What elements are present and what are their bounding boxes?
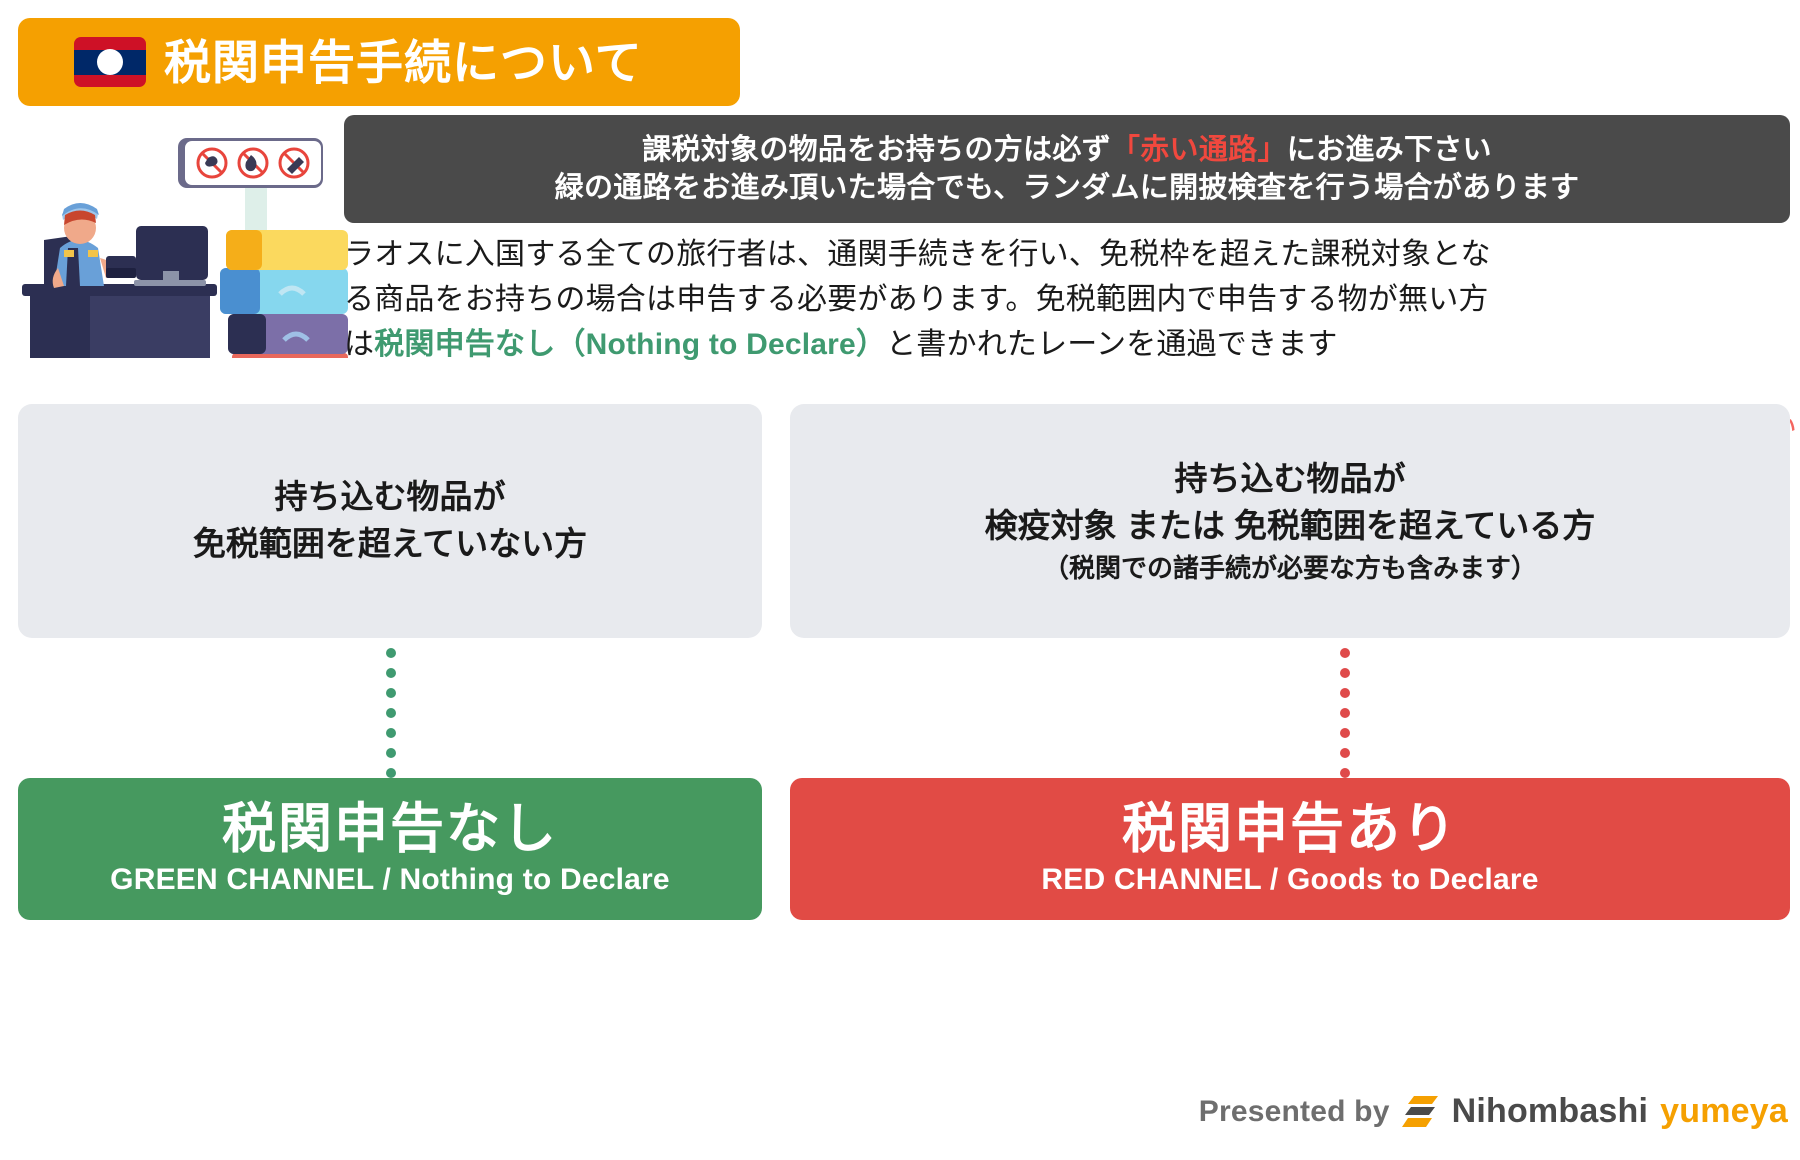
condition-left-line-2: 免税範囲を超えていない方 [193, 521, 587, 568]
prohibition-sign-board [178, 138, 323, 188]
condition-left-line-1: 持ち込む物品が [275, 474, 506, 521]
arrow-red-dots [1340, 648, 1350, 778]
green-channel-box: 税関申告なし GREEN CHANNEL / Nothing to Declar… [18, 778, 762, 920]
condition-right-line-3: （税関での諸手続が必要な方も含みます） [1043, 550, 1537, 586]
footer-branding: Presented by Nihombashiyumeya [1199, 1092, 1788, 1131]
body-paragraph: ラオスに入国する全ての旅行者は、通関手続きを行い、免税枠を超えた課税対象とな る… [344, 232, 1796, 367]
condition-box-green: 持ち込む物品が 免税範囲を超えていない方 [18, 404, 762, 638]
laos-flag-icon [74, 37, 146, 87]
warning-line-1-post: にお進み下さい [1287, 134, 1492, 166]
suitcase-stack [220, 230, 348, 358]
red-channel-title-jp: 税関申告あり [1122, 800, 1458, 858]
body-line-1: ラオスに入国する全ての旅行者は、通関手続きを行い、免税枠を超えた課税対象とな [344, 232, 1796, 277]
red-channel-title-en: RED CHANNEL / Goods to Declare [1041, 862, 1538, 898]
page-title: 税関申告手続について [164, 39, 643, 86]
warning-red-channel-text: 「赤い通路」 [1111, 134, 1287, 166]
warning-line-1: 課税対象の物品をお持ちの方は必ず「赤い通路」にお進み下さい [642, 131, 1492, 169]
header-banner: 税関申告手続について [18, 18, 740, 106]
arrow-green-dots [386, 648, 396, 778]
infographic-root: 税関申告手続について [0, 0, 1800, 1160]
body-line-2: る商品をお持ちの場合は申告する必要があります。免税範囲内で申告する物が無い方 [344, 277, 1796, 322]
condition-right-line-2: 検疫対象 または 免税範囲を超えている方 [985, 503, 1596, 550]
body-green-channel-text: 税関申告なし（Nothing to Declare） [374, 328, 886, 361]
green-channel-title-en: GREEN CHANNEL / Nothing to Declare [110, 862, 670, 898]
yumeya-logo-icon [1402, 1094, 1440, 1130]
presented-by-label: Presented by [1199, 1095, 1390, 1129]
brand-name-part2: yumeya [1660, 1092, 1788, 1131]
body-line-3-pre: は [344, 328, 374, 361]
customs-officer-illustration [8, 108, 348, 358]
brand-name-part1: Nihombashi [1452, 1092, 1649, 1131]
red-channel-box: 税関申告あり RED CHANNEL / Goods to Declare [790, 778, 1790, 920]
condition-box-red: 持ち込む物品が 検疫対象 または 免税範囲を超えている方 （税関での諸手続が必要… [790, 404, 1790, 638]
condition-right-line-1: 持ち込む物品が [1175, 456, 1406, 503]
green-channel-title-jp: 税関申告なし [222, 800, 558, 858]
body-line-3-post: と書かれたレーンを通過できます [886, 328, 1338, 361]
warning-line-2: 緑の通路をお進み頂いた場合でも、ランダムに開披検査を行う場合があります [555, 169, 1580, 207]
warning-banner: 課税対象の物品をお持ちの方は必ず「赤い通路」にお進み下さい 緑の通路をお進み頂い… [344, 115, 1790, 223]
warning-line-1-pre: 課税対象の物品をお持ちの方は必ず [642, 134, 1111, 166]
body-line-3: は税関申告なし（Nothing to Declare）と書かれたレーンを通過でき… [344, 322, 1796, 367]
